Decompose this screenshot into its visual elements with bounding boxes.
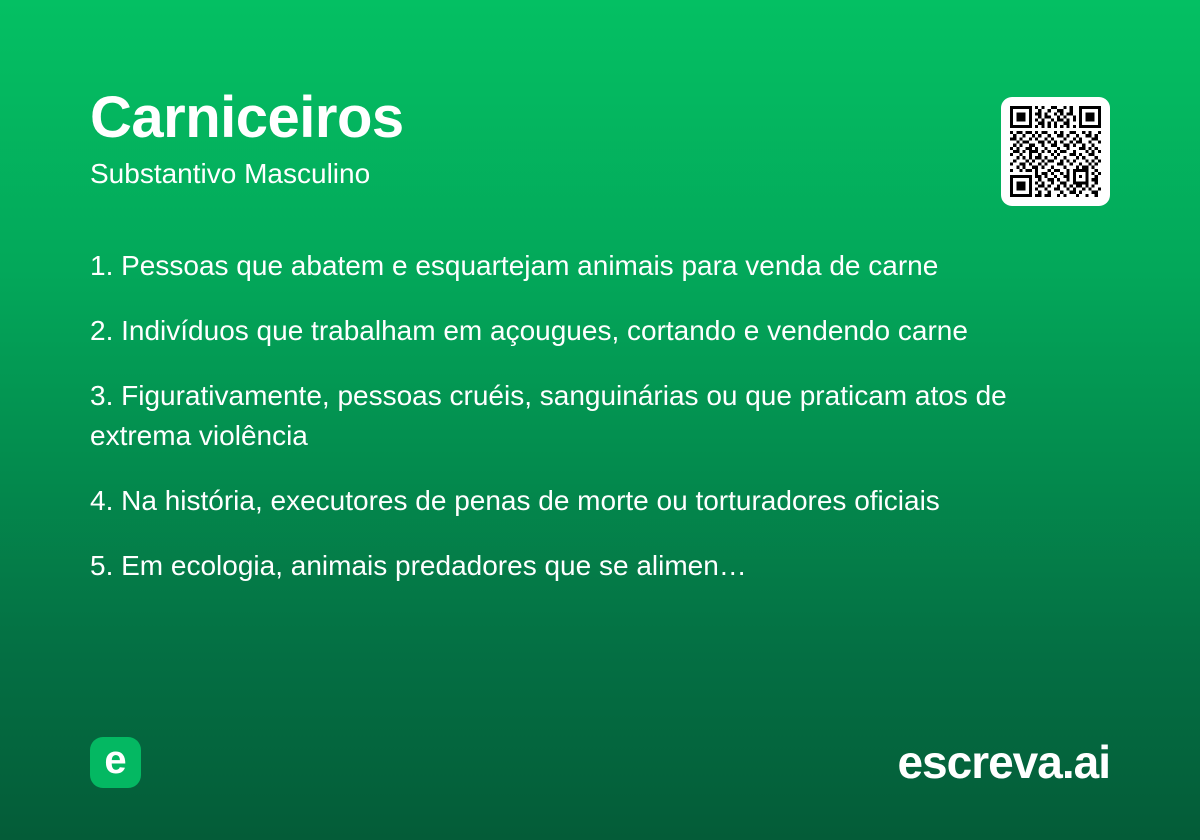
card-footer: e escreva.ai	[90, 736, 1110, 788]
card-header: Carniceiros Substantivo Masculino	[90, 86, 1110, 191]
definition-list: 1. Pessoas que abatem e esquartejam anim…	[90, 246, 1105, 586]
qr-code-icon	[1010, 106, 1101, 197]
brand-wordmark: escreva.ai	[897, 739, 1110, 785]
qr-code[interactable]	[1001, 97, 1110, 206]
definition-item: 5. Em ecologia, animais predadores que s…	[90, 546, 1105, 586]
logo-letter: e	[104, 740, 126, 780]
definition-item: 1. Pessoas que abatem e esquartejam anim…	[90, 246, 1105, 286]
definition-item: 2. Indivíduos que trabalham em açougues,…	[90, 311, 1105, 351]
definition-item: 3. Figurativamente, pessoas cruéis, sang…	[90, 376, 1105, 456]
word-class-subtitle: Substantivo Masculino	[90, 157, 1110, 191]
dictionary-card: Carniceiros Substantivo Masculino	[0, 0, 1200, 840]
escreva-logo-icon: e	[90, 737, 141, 788]
page-title: Carniceiros	[90, 86, 1110, 151]
definition-item: 4. Na história, executores de penas de m…	[90, 481, 1105, 521]
